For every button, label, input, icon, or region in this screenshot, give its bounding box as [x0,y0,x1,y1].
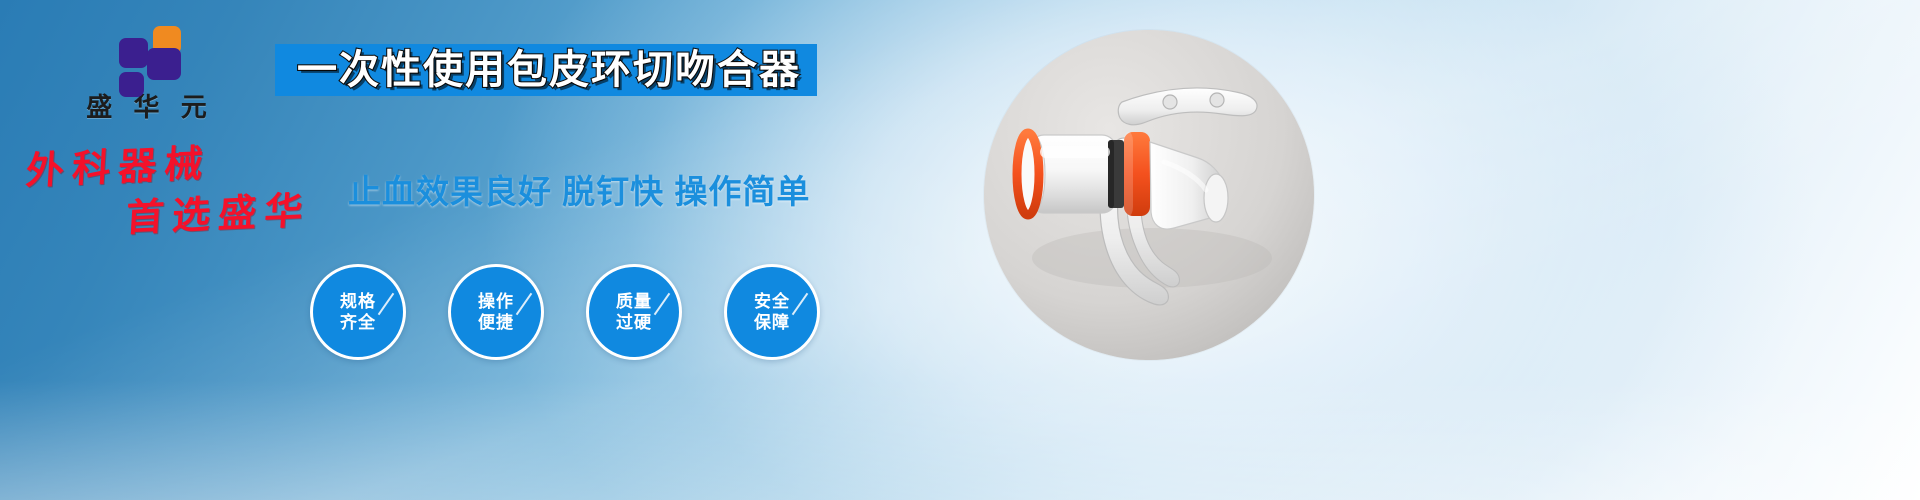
logo-brand-text: 盛 华 元 [86,93,213,122]
bottom-fade-overlay [0,380,1920,500]
feature-badge-specifications[interactable]: 规格 齐全 [310,264,406,360]
logo-square-bottom-left [119,72,144,97]
logo-square-top-left [119,38,148,68]
headline-title: 一次性使用包皮环切吻合器 [297,50,801,90]
circumcision-stapler-illustration [984,30,1314,360]
feature-badge-line-1: 操作 [478,291,514,312]
feature-badge-list: 规格 齐全 操作 便捷 质量 过硬 安全 保障 [310,264,820,360]
feature-badge-safety[interactable]: 安全 保障 [724,264,820,360]
brush-slogan-line-2: 首选盛华 [125,187,358,238]
slash-decor-icon [378,293,395,315]
slash-decor-icon [654,293,671,315]
headline-bar: 一次性使用包皮环切吻合器 [275,44,817,96]
slash-decor-icon [792,293,809,315]
feature-badge-line-2: 过硬 [616,312,652,333]
brush-slogan-line-1: 外科器械 [25,136,359,191]
subtitle-text: 止血效果良好 脱钉快 操作简单 [348,165,810,213]
feature-badge-line-2: 保障 [754,312,790,333]
feature-badge-line-1: 质量 [616,291,652,312]
feature-badge-operation[interactable]: 操作 便捷 [448,264,544,360]
product-photo[interactable] [984,30,1314,360]
feature-badge-line-2: 齐全 [340,312,376,333]
company-logo[interactable]: 盛 华 元 [60,26,240,134]
feature-badge-quality[interactable]: 质量 过硬 [586,264,682,360]
feature-badge-line-2: 便捷 [478,312,514,333]
feature-badge-line-1: 安全 [754,291,790,312]
slash-decor-icon [516,293,533,315]
brush-slogan: 外科器械 首选盛华 [26,150,356,238]
logo-mark-icon [119,26,181,88]
promo-banner: 盛 华 元 一次性使用包皮环切吻合器 外科器械 首选盛华 止血效果良好 脱钉快 … [0,0,1920,500]
feature-badge-line-1: 规格 [340,291,376,312]
logo-square-bottom-right [147,48,181,80]
